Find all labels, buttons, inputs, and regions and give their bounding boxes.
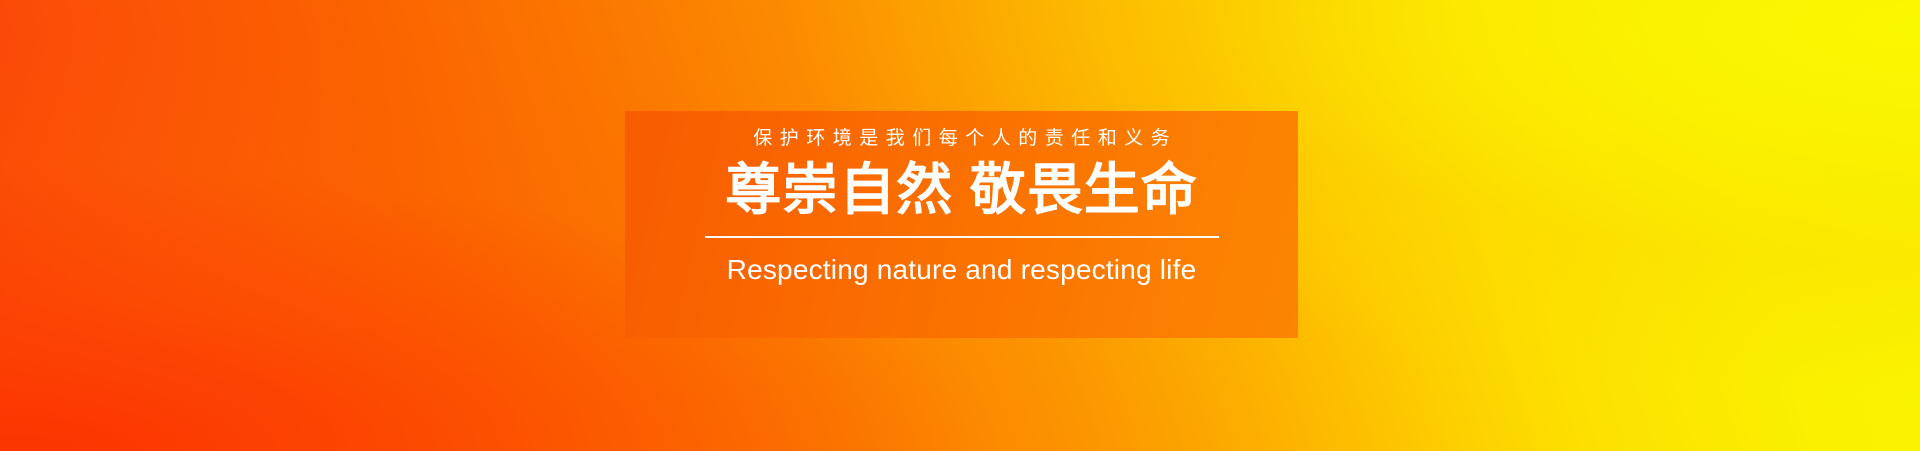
banner-subtitle: 保护环境是我们每个人的责任和义务 [746,124,1178,154]
banner-headline: 尊崇自然 敬畏生命 [725,157,1198,223]
message-panel-content: 保护环境是我们每个人的责任和义务 尊崇自然 敬畏生命 Respecting na… [705,111,1219,290]
promotional-banner: 保护环境是我们每个人的责任和义务 尊崇自然 敬畏生命 Respecting na… [0,0,1920,451]
message-panel: 保护环境是我们每个人的责任和义务 尊崇自然 敬畏生命 Respecting na… [625,111,1298,338]
banner-english-tagline: Respecting nature and respecting life [727,250,1197,290]
headline-divider [705,236,1219,238]
